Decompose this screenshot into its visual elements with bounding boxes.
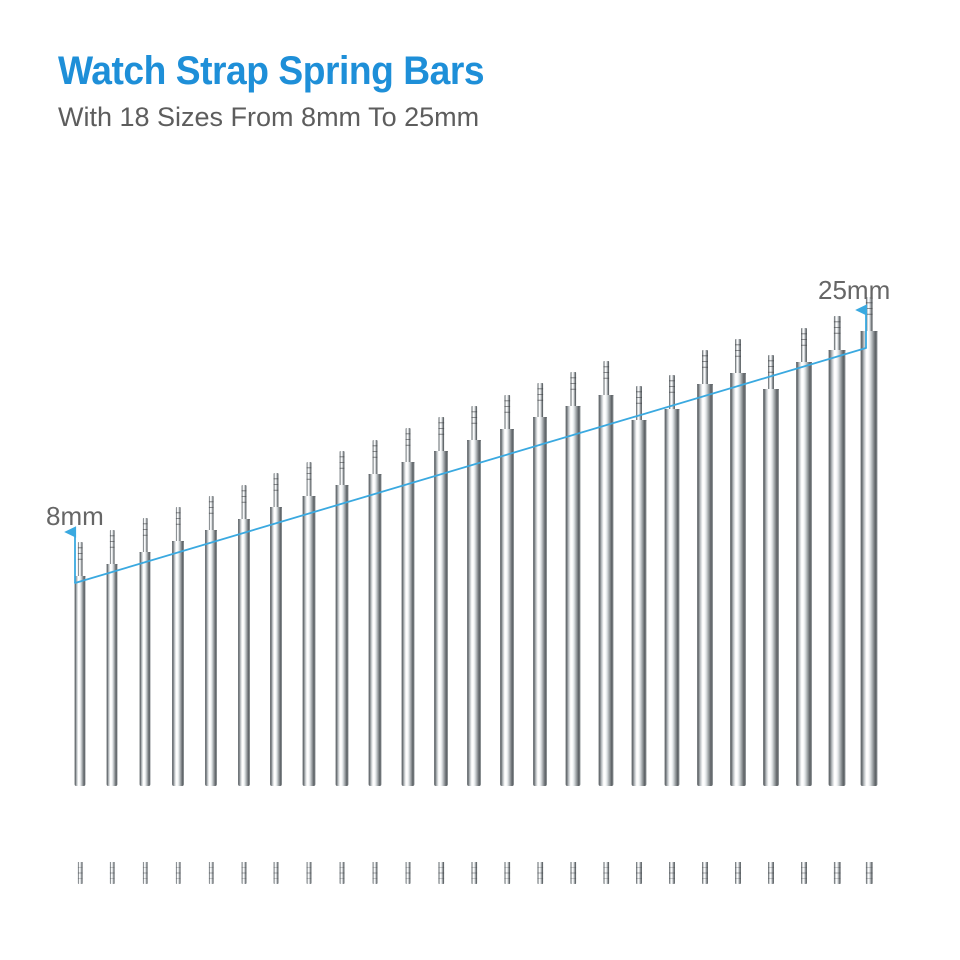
spring-bar-tip bbox=[209, 496, 214, 532]
spring-bar-tip bbox=[438, 417, 444, 453]
spring-bar bbox=[205, 496, 217, 884]
spring-bar-tip-bottom bbox=[537, 862, 543, 884]
spring-bar-tip-bottom bbox=[438, 862, 444, 884]
spring-bar-body bbox=[697, 384, 713, 786]
spring-bar-tip bbox=[834, 316, 841, 352]
spring-bar-body bbox=[75, 576, 86, 786]
spring-bar-body bbox=[434, 451, 448, 786]
spring-bar bbox=[665, 375, 680, 884]
spring-bar-tip bbox=[570, 372, 576, 408]
spring-bar bbox=[336, 451, 349, 884]
max-size-label: 25mm bbox=[818, 275, 890, 306]
spring-bar-tip-bottom bbox=[768, 862, 774, 884]
spring-bar-tip bbox=[735, 339, 741, 375]
spring-bar-tip-bottom bbox=[307, 862, 312, 884]
spring-bar-tip bbox=[143, 518, 148, 554]
spring-bar-body bbox=[402, 462, 415, 786]
spring-bar-body bbox=[665, 409, 680, 786]
spring-bar bbox=[500, 395, 514, 884]
spring-bar bbox=[533, 383, 547, 884]
spring-bar-tip-bottom bbox=[274, 862, 279, 884]
min-size-label: 8mm bbox=[46, 501, 104, 532]
spring-bar-body bbox=[861, 331, 878, 786]
spring-bar-body bbox=[829, 350, 846, 786]
spring-bar-body bbox=[796, 362, 812, 786]
spring-bar-tip bbox=[242, 485, 247, 521]
spring-bar-tip-bottom bbox=[834, 862, 841, 884]
spring-bar bbox=[369, 440, 382, 884]
spring-bar-tip bbox=[702, 350, 708, 386]
spring-bar-tip bbox=[176, 507, 181, 543]
spring-bar-tip bbox=[801, 328, 807, 364]
spring-bar bbox=[599, 361, 614, 884]
spring-bar-tip bbox=[274, 473, 279, 509]
spring-bar bbox=[303, 462, 316, 884]
spring-bar-tip bbox=[603, 361, 609, 397]
spring-bar-tip bbox=[669, 375, 675, 411]
spring-bar-body bbox=[140, 552, 151, 786]
spring-bar bbox=[796, 328, 812, 884]
size-chart-diagram: 8mm 25mm bbox=[0, 0, 960, 960]
spring-bar-tip-bottom bbox=[176, 862, 181, 884]
spring-bar-tip-bottom bbox=[209, 862, 214, 884]
spring-bar-tip bbox=[307, 462, 312, 498]
spring-bar bbox=[467, 406, 481, 884]
spring-bar-tip bbox=[504, 395, 510, 431]
spring-bar-tip-bottom bbox=[504, 862, 510, 884]
spring-bar bbox=[566, 372, 581, 884]
spring-bar-tip-bottom bbox=[603, 862, 609, 884]
spring-bar-tip-bottom bbox=[406, 862, 411, 884]
spring-bar-tip-bottom bbox=[78, 862, 83, 884]
spring-bar-body bbox=[566, 406, 581, 786]
spring-bar-tip bbox=[537, 383, 543, 419]
spring-bar-tip-bottom bbox=[570, 862, 576, 884]
product-infographic: Watch Strap Spring Bars With 18 Sizes Fr… bbox=[0, 0, 960, 960]
spring-bar bbox=[763, 355, 779, 884]
spring-bar bbox=[861, 297, 878, 884]
spring-bar-body bbox=[336, 485, 349, 786]
spring-bar-tip bbox=[471, 406, 477, 442]
spring-bar-body bbox=[467, 440, 481, 786]
spring-bar-body bbox=[730, 373, 746, 786]
spring-bar bbox=[402, 428, 415, 884]
spring-bar-tip-bottom bbox=[636, 862, 642, 884]
spring-bar-body bbox=[599, 395, 614, 786]
spring-bar bbox=[829, 316, 846, 884]
spring-bar-tip-bottom bbox=[801, 862, 807, 884]
spring-bar-tip bbox=[406, 428, 411, 464]
spring-bar-row bbox=[0, 0, 960, 960]
spring-bar-tip bbox=[110, 530, 115, 566]
spring-bar-body bbox=[533, 417, 547, 786]
spring-bar-tip-bottom bbox=[110, 862, 115, 884]
spring-bar bbox=[75, 542, 86, 884]
spring-bar bbox=[107, 530, 118, 884]
spring-bar bbox=[730, 339, 746, 884]
spring-bar bbox=[172, 507, 184, 884]
spring-bar-tip bbox=[373, 440, 378, 476]
spring-bar-tip-bottom bbox=[471, 862, 477, 884]
spring-bar-tip bbox=[636, 386, 642, 422]
spring-bar bbox=[140, 518, 151, 884]
spring-bar-tip-bottom bbox=[735, 862, 741, 884]
spring-bar-body bbox=[763, 389, 779, 786]
spring-bar-tip-bottom bbox=[702, 862, 708, 884]
spring-bar bbox=[434, 417, 448, 884]
spring-bar-body bbox=[303, 496, 316, 786]
spring-bar-tip-bottom bbox=[373, 862, 378, 884]
spring-bar bbox=[238, 485, 250, 884]
spring-bar-body bbox=[172, 541, 184, 786]
spring-bar-tip-bottom bbox=[866, 862, 873, 884]
spring-bar bbox=[632, 386, 647, 884]
spring-bar-body bbox=[500, 429, 514, 786]
spring-bar-tip-bottom bbox=[143, 862, 148, 884]
spring-bar-body bbox=[632, 420, 647, 786]
spring-bar-body bbox=[270, 507, 282, 786]
spring-bar-tip bbox=[768, 355, 774, 391]
spring-bar bbox=[270, 473, 282, 884]
spring-bar-body bbox=[107, 564, 118, 786]
spring-bar-tip bbox=[78, 542, 83, 578]
spring-bar-body bbox=[205, 530, 217, 786]
spring-bar bbox=[697, 350, 713, 884]
spring-bar-tip-bottom bbox=[242, 862, 247, 884]
spring-bar-body bbox=[238, 519, 250, 786]
spring-bar-tip-bottom bbox=[669, 862, 675, 884]
spring-bar-tip-bottom bbox=[340, 862, 345, 884]
spring-bar-body bbox=[369, 474, 382, 786]
spring-bar-tip bbox=[340, 451, 345, 487]
